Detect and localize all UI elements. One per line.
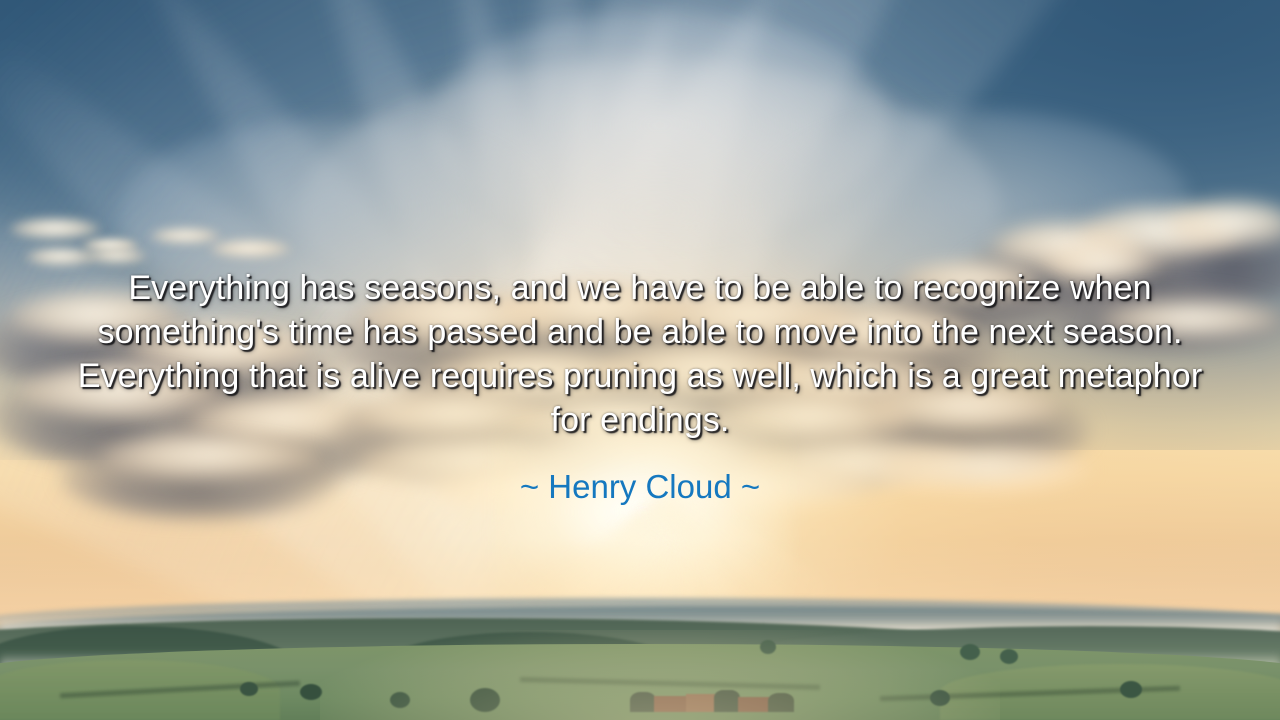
tree xyxy=(1120,681,1142,698)
field-sunlight-wash xyxy=(320,630,1000,720)
tree xyxy=(240,682,258,696)
tree xyxy=(1000,649,1018,664)
quote-block: Everything has seasons, and we have to b… xyxy=(0,266,1280,506)
tree xyxy=(300,684,322,700)
countryside-landscape xyxy=(0,560,1280,720)
quote-wallpaper: Everything has seasons, and we have to b… xyxy=(0,0,1280,720)
quote-attribution: ~ Henry Cloud ~ xyxy=(0,468,1280,506)
quote-text: Everything has seasons, and we have to b… xyxy=(70,266,1210,442)
